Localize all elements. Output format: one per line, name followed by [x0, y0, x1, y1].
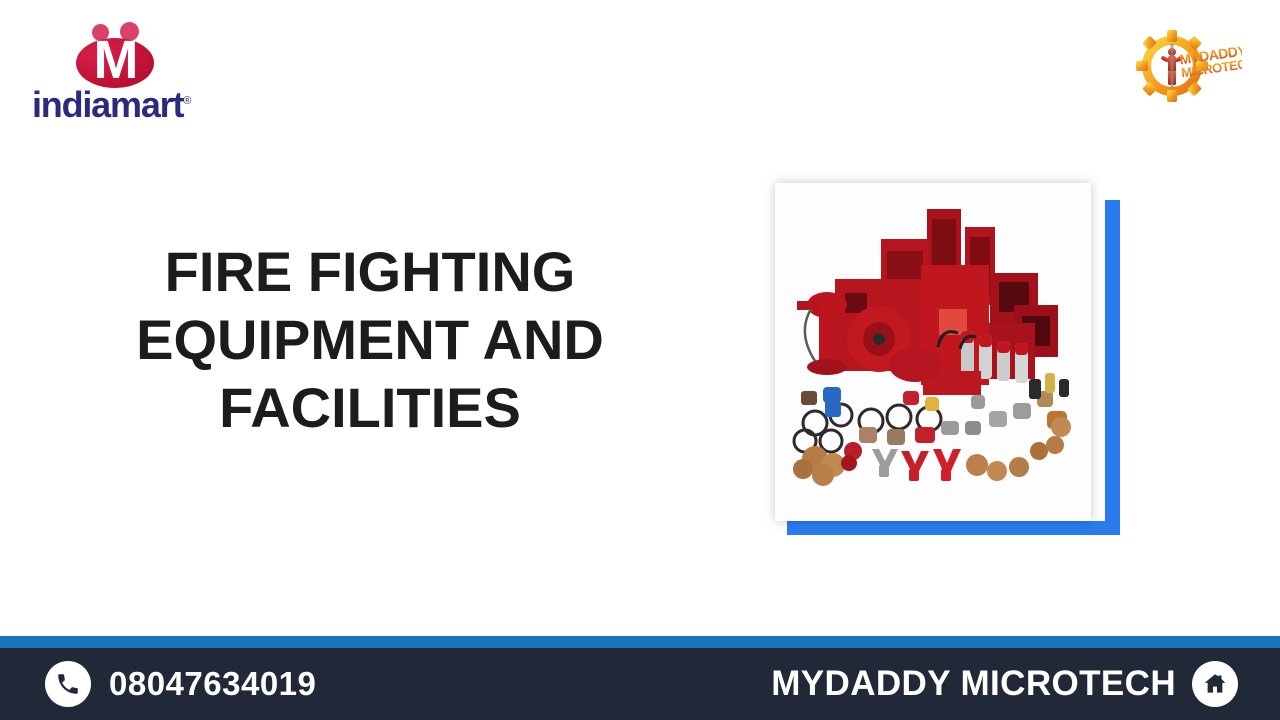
phone-icon[interactable]	[45, 661, 91, 707]
indiamart-wordmark-text: indiamart	[32, 84, 183, 125]
page-title: FIRE FIGHTING EQUIPMENT AND FACILITIES	[60, 238, 680, 442]
page-title-line-2: EQUIPMENT AND	[60, 306, 680, 374]
brand-logo[interactable]: MYDADDY MICROTECH	[1134, 24, 1242, 108]
page-title-line-3: FACILITIES	[60, 374, 680, 442]
company-identity[interactable]: MYDADDY MICROTECH	[771, 660, 1238, 708]
indiamart-mark-letter: M	[89, 38, 141, 84]
footer-accent-strip	[0, 636, 1280, 648]
slide-canvas: M indiamart®	[0, 0, 1280, 720]
phone-number: 08047634019	[109, 665, 316, 703]
company-name: MYDADDY MICROTECH	[771, 664, 1176, 704]
page-title-line-1: FIRE FIGHTING	[60, 238, 680, 306]
media-accent-bar-right	[1105, 200, 1120, 535]
indiamart-logo[interactable]: M indiamart®	[32, 22, 202, 132]
indiamart-wordmark: indiamart®	[32, 84, 190, 126]
home-icon[interactable]	[1192, 661, 1238, 707]
footer-content: 08047634019 MYDADDY MICROTECH	[0, 648, 1280, 720]
product-media-block	[775, 183, 1120, 535]
fire-fighting-equipment-photo	[775, 183, 1091, 521]
product-image-frame[interactable]	[775, 183, 1091, 521]
footer-bar: 08047634019 MYDADDY MICROTECH	[0, 636, 1280, 720]
phone-contact[interactable]: 08047634019	[45, 660, 316, 708]
indiamart-registered-mark: ®	[183, 95, 190, 107]
media-accent-bar-bottom	[787, 521, 1120, 535]
indiamart-m-mark-icon: M	[76, 22, 154, 88]
